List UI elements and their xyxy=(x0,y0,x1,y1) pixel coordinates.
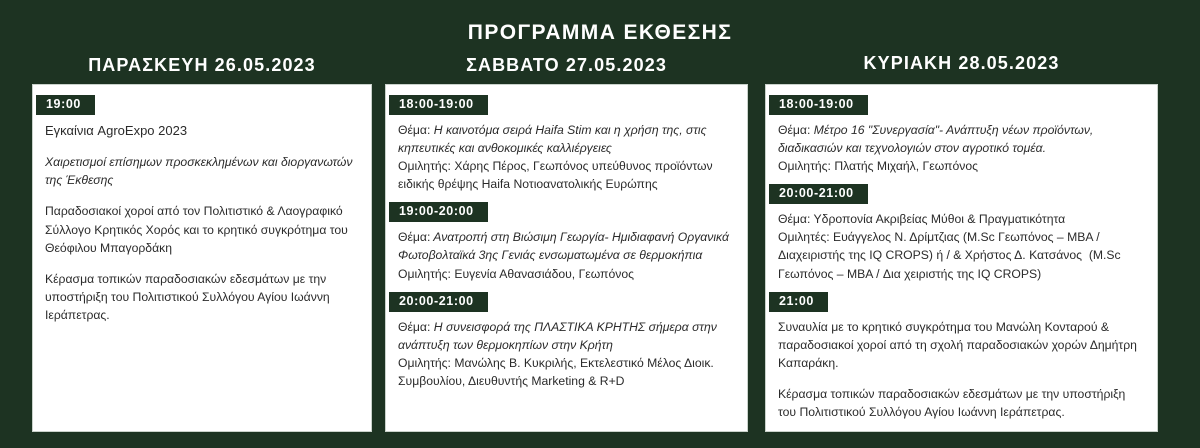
day-column-friday: ΠΑΡΑΣΚΕΥΗ 26.05.2023 19:00Εγκαίνια AgroE… xyxy=(32,0,372,448)
schedule-slot: 19:00-20:00Θέμα: Ανατροπή στη Βιώσιμη Γε… xyxy=(386,202,747,284)
slot-line-label: Θέμα: xyxy=(398,320,430,334)
day-column-saturday: ΣΑΒΒΑΤΟ 27.05.2023 18:00-19:00Θέμα: Η κα… xyxy=(385,0,748,448)
slot-text-line: Κέρασμα τοπικών παραδοσιακών εδεσμάτων μ… xyxy=(778,385,1139,421)
slot-detail-line: Θέμα: Υδροπονία Ακριβείας Μύθοι & Πραγμα… xyxy=(778,210,1139,228)
slot-body: Εγκαίνια AgroExpo 2023Χαιρετισμοί επίσημ… xyxy=(33,115,361,326)
slot-detail-line: Θέμα: Η καινοτόμα σειρά Haifa Stim και η… xyxy=(398,121,729,157)
slot-line-text: Πλατής Μιχαήλ, Γεωπόνος xyxy=(831,159,978,173)
slot-detail-line: Θέμα: Η συνεισφορά της ΠΛΑΣΤΙΚΑ ΚΡΗΤΗΣ σ… xyxy=(398,318,729,354)
schedule-slot: 19:00Εγκαίνια AgroExpo 2023Χαιρετισμοί ε… xyxy=(33,95,371,326)
slot-line-text: Υδροπονία Ακριβείας Μύθοι & Πραγματικότη… xyxy=(810,212,1065,226)
slot-detail-line: Θέμα: Ανατροπή στη Βιώσιμη Γεωργία- Ημιδ… xyxy=(398,228,729,264)
slot-line-text: Ευάγγελος Ν. Δρίμτζιας (M.Sc Γεωπόνος – … xyxy=(778,230,1124,280)
slot-text-line: Εγκαίνια AgroExpo 2023 xyxy=(45,121,353,140)
slot-line-label: Θέμα: xyxy=(778,212,810,226)
schedule-panel-friday: 19:00Εγκαίνια AgroExpo 2023Χαιρετισμοί ε… xyxy=(32,84,372,432)
program-poster: ΠΡΟΓΡΑΜΜΑ ΕΚΘΕΣΗΣ ΠΑΡΑΣΚΕΥΗ 26.05.2023 1… xyxy=(0,0,1200,448)
slot-body: Θέμα: Μέτρο 16 "Συνεργασία"- Ανάπτυξη νέ… xyxy=(766,115,1147,177)
slot-text-line: Παραδοσιακοί χοροί από τον Πολιτιστικό &… xyxy=(45,202,353,256)
slot-text-line: Συναυλία με το κρητικό συγκρότημα του Μα… xyxy=(778,318,1139,372)
slot-line-label: Ομιλητής: xyxy=(398,356,451,370)
slot-body: Θέμα: Υδροπονία Ακριβείας Μύθοι & Πραγμα… xyxy=(766,204,1147,284)
slot-line-text: Ευγενία Αθανασιάδου, Γεωπόνος xyxy=(451,267,634,281)
schedule-slot: 18:00-19:00Θέμα: Μέτρο 16 "Συνεργασία"- … xyxy=(766,95,1157,177)
slot-detail-line: Ομιλητής: Ευγενία Αθανασιάδου, Γεωπόνος xyxy=(398,265,729,283)
time-badge: 19:00 xyxy=(36,95,95,115)
day-columns: ΠΑΡΑΣΚΕΥΗ 26.05.2023 19:00Εγκαίνια AgroE… xyxy=(0,0,1200,448)
slot-line-label: Ομιλητής: xyxy=(398,267,451,281)
slot-line-text: Η συνεισφορά της ΠΛΑΣΤΙΚΑ ΚΡΗΤΗΣ σήμερα … xyxy=(398,320,720,352)
schedule-panel-sunday: 18:00-19:00Θέμα: Μέτρο 16 "Συνεργασία"- … xyxy=(765,84,1158,432)
schedule-slot: 20:00-21:00Θέμα: Η συνεισφορά της ΠΛΑΣΤΙ… xyxy=(386,292,747,392)
slot-line-label: Ομιλητής: xyxy=(778,159,831,173)
slot-detail-line: Θέμα: Μέτρο 16 "Συνεργασία"- Ανάπτυξη νέ… xyxy=(778,121,1139,157)
slot-text-line: Κέρασμα τοπικών παραδοσιακών εδεσμάτων μ… xyxy=(45,270,353,324)
time-badge: 18:00-19:00 xyxy=(769,95,868,115)
time-badge: 20:00-21:00 xyxy=(769,184,868,204)
slot-body: Θέμα: Η συνεισφορά της ΠΛΑΣΤΙΚΑ ΚΡΗΤΗΣ σ… xyxy=(386,312,737,392)
schedule-slot: 21:00Συναυλία με το κρητικό συγκρότημα τ… xyxy=(766,292,1157,423)
slot-line-label: Θέμα: xyxy=(778,123,810,137)
slot-text-line: Χαιρετισμοί επίσημων προσκεκλημένων και … xyxy=(45,153,353,189)
time-badge: 20:00-21:00 xyxy=(389,292,488,312)
slot-body: Θέμα: Ανατροπή στη Βιώσιμη Γεωργία- Ημιδ… xyxy=(386,222,737,284)
slot-detail-line: Ομιλητής: Χάρης Πέρος, Γεωπόνος υπεύθυνο… xyxy=(398,157,729,193)
schedule-panel-saturday: 18:00-19:00Θέμα: Η καινοτόμα σειρά Haifa… xyxy=(385,84,748,432)
slot-line-label: Ομιλητές: xyxy=(778,230,830,244)
slot-detail-line: Ομιλητές: Ευάγγελος Ν. Δρίμτζιας (M.Sc Γ… xyxy=(778,228,1139,282)
day-header-saturday: ΣΑΒΒΑΤΟ 27.05.2023 xyxy=(385,55,748,76)
time-badge: 21:00 xyxy=(769,292,828,312)
slot-line-label: Θέμα: xyxy=(398,230,430,244)
slot-detail-line: Ομιλητής: Πλατής Μιχαήλ, Γεωπόνος xyxy=(778,157,1139,175)
schedule-slot: 18:00-19:00Θέμα: Η καινοτόμα σειρά Haifa… xyxy=(386,95,747,195)
slot-line-text: Μέτρο 16 "Συνεργασία"- Ανάπτυξη νέων προ… xyxy=(778,123,1097,155)
slot-line-label: Θέμα: xyxy=(398,123,430,137)
schedule-slot: 20:00-21:00Θέμα: Υδροπονία Ακριβείας Μύθ… xyxy=(766,184,1157,284)
slot-body: Θέμα: Η καινοτόμα σειρά Haifa Stim και η… xyxy=(386,115,737,195)
day-header-friday: ΠΑΡΑΣΚΕΥΗ 26.05.2023 xyxy=(32,55,372,76)
time-badge: 18:00-19:00 xyxy=(389,95,488,115)
slot-line-label: Ομιλητής: xyxy=(398,159,451,173)
slot-line-text: Η καινοτόμα σειρά Haifa Stim και η χρήση… xyxy=(398,123,710,155)
time-badge: 19:00-20:00 xyxy=(389,202,488,222)
day-header-sunday: ΚΥΡΙΑΚΗ 28.05.2023 xyxy=(765,53,1158,74)
slot-detail-line: Ομιλητής: Μανώλης Β. Κυκριλής, Εκτελεστι… xyxy=(398,354,729,390)
day-column-sunday: ΚΥΡΙΑΚΗ 28.05.2023 18:00-19:00Θέμα: Μέτρ… xyxy=(765,0,1158,448)
slot-line-text: Ανατροπή στη Βιώσιμη Γεωργία- Ημιδιαφανή… xyxy=(398,230,732,262)
slot-body: Συναυλία με το κρητικό συγκρότημα του Μα… xyxy=(766,312,1147,423)
